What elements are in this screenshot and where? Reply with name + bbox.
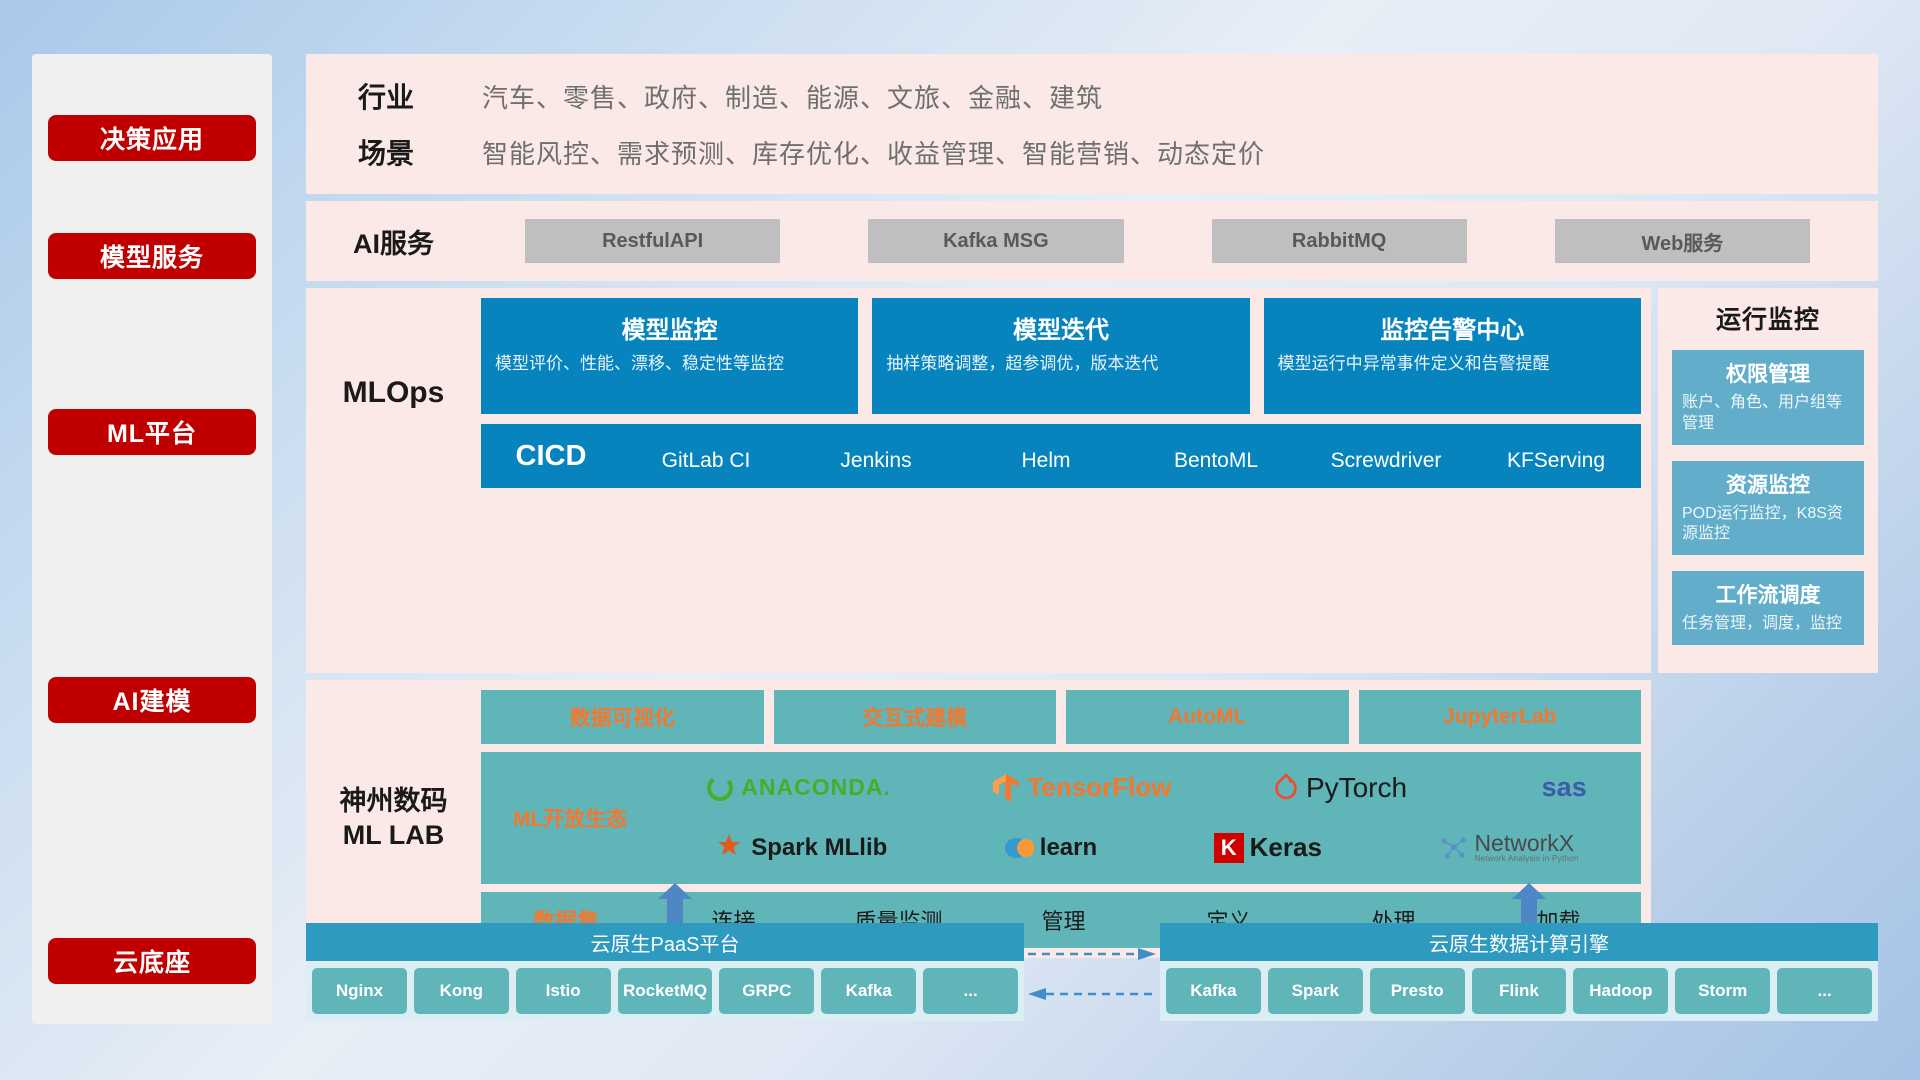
service-chip-web-service[interactable]: Web服务 [1555, 219, 1810, 263]
cicd-title: CICD [481, 440, 621, 473]
card-title: 监控告警中心 [1278, 310, 1627, 345]
card-title: 模型迭代 [886, 310, 1235, 345]
ml-open-ecosystem: ML开放生态 ANACONDA. [481, 752, 1641, 884]
pytorch-label: PyTorch [1306, 772, 1407, 804]
up-arrow-paas-icon [658, 883, 692, 923]
lab-tool-data-visualization[interactable]: 数据可视化 [481, 690, 764, 744]
cicd-item-gitlab-ci[interactable]: GitLab CI [621, 440, 791, 472]
paas-chip-istio[interactable]: Istio [516, 968, 611, 1014]
cicd-item-bentoml[interactable]: BentoML [1131, 440, 1301, 472]
ai-service-label: AI服务 [306, 222, 481, 261]
compute-chip-spark[interactable]: Spark [1268, 968, 1363, 1014]
spark-mllib-label: Spark MLlib [751, 834, 887, 862]
paas-chip-more[interactable]: ... [923, 968, 1018, 1014]
compute-chip-presto[interactable]: Presto [1370, 968, 1465, 1014]
data-compute-engine-block: 云原生数据计算引擎 Kafka Spark Presto Flink Hadoo… [1160, 923, 1878, 1021]
lab-tool-automl[interactable]: AutoML [1066, 690, 1349, 744]
card-desc: 任务管理，调度，监控 [1682, 614, 1854, 635]
ml-lab-label-line2: ML LAB [343, 819, 445, 853]
scenario-key: 场景 [330, 132, 482, 172]
card-title: 模型监控 [495, 310, 844, 345]
compute-chip-kafka[interactable]: Kafka [1166, 968, 1261, 1014]
mlops-card-model-iteration[interactable]: 模型迭代 抽样策略调整，超参调优，版本迭代 [872, 298, 1249, 414]
left-rail: 决策应用 模型服务 ML平台 AI建模 云底座 [32, 54, 272, 1024]
mlops-label: MLOps [306, 298, 481, 488]
anaconda-label: ANACONDA. [741, 774, 891, 801]
compute-chip-more[interactable]: ... [1777, 968, 1872, 1014]
monitor-rail-title: 运行监控 [1672, 300, 1864, 336]
ml-open-ecosystem-label: ML开放生态 [485, 803, 655, 833]
up-arrow-compute-icon [1512, 883, 1546, 923]
keras-logo: K Keras [1214, 832, 1322, 863]
cicd-item-kfserving[interactable]: KFServing [1471, 440, 1641, 472]
ai-service-band: AI服务 RestfulAPI Kafka MSG RabbitMQ Web服务 [306, 201, 1878, 281]
keras-mark: K [1214, 833, 1244, 863]
rail-chip-ml-platform[interactable]: ML平台 [48, 409, 256, 455]
lab-tool-interactive-modeling[interactable]: 交互式建模 [774, 690, 1057, 744]
industry-key: 行业 [330, 76, 482, 116]
paas-platform-block: 云原生PaaS平台 Nginx Kong Istio RocketMQ GRPC… [306, 923, 1024, 1021]
paas-chip-grpc[interactable]: GRPC [719, 968, 814, 1014]
cicd-item-screwdriver[interactable]: Screwdriver [1301, 440, 1471, 472]
card-desc: 模型评价、性能、漂移、稳定性等监控 [495, 353, 844, 376]
monitor-card-workflow[interactable]: 工作流调度 任务管理，调度，监控 [1672, 571, 1864, 645]
spark-mllib-logo: Spark MLlib [713, 833, 887, 863]
pytorch-logo: PyTorch [1272, 772, 1407, 804]
mlops-band: MLOps 模型监控 模型评价、性能、漂移、稳定性等监控 模型迭代 抽样策略调整… [306, 288, 1651, 673]
scenario-row: 场景 智能风控、需求预测、库存优化、收益管理、智能营销、动态定价 [330, 124, 1854, 180]
architecture-stack: 行业 汽车、零售、政府、制造、能源、文旅、金融、建筑 场景 智能风控、需求预测、… [306, 54, 1878, 958]
compute-chip-hadoop[interactable]: Hadoop [1573, 968, 1668, 1014]
rail-chip-decision-app[interactable]: 决策应用 [48, 115, 256, 161]
paas-chip-kong[interactable]: Kong [414, 968, 509, 1014]
paas-chip-rocketmq[interactable]: RocketMQ [618, 968, 713, 1014]
monitor-card-resource[interactable]: 资源监控 POD运行监控，K8S资源监控 [1672, 461, 1864, 556]
paas-chip-kafka[interactable]: Kafka [821, 968, 916, 1014]
scikit-learn-logo: learn [1004, 834, 1097, 862]
card-desc: POD运行监控，K8S资源监控 [1682, 504, 1854, 546]
tensorflow-logo: TensorFlow [991, 772, 1171, 804]
service-chip-rabbitmq[interactable]: RabbitMQ [1212, 219, 1467, 263]
industry-row: 行业 汽车、零售、政府、制造、能源、文旅、金融、建筑 [330, 68, 1854, 124]
cicd-item-helm[interactable]: Helm [961, 440, 1131, 472]
networkx-logo: NetworkX Network Analysis in Python [1438, 832, 1578, 863]
cicd-item-jenkins[interactable]: Jenkins [791, 440, 961, 472]
card-title: 权限管理 [1682, 358, 1854, 388]
networkx-sublabel: Network Analysis in Python [1474, 855, 1578, 863]
sas-logo: sas [1508, 772, 1587, 803]
tensorflow-label: TensorFlow [1027, 772, 1171, 803]
scenario-value: 智能风控、需求预测、库存优化、收益管理、智能营销、动态定价 [482, 134, 1265, 171]
ml-lab-label-line1: 神州数码 [340, 785, 448, 819]
service-chip-restfulapi[interactable]: RestfulAPI [525, 219, 780, 263]
card-desc: 账户、角色、用户组等管理 [1682, 393, 1854, 435]
keras-label: Keras [1250, 832, 1322, 863]
paas-chip-nginx[interactable]: Nginx [312, 968, 407, 1014]
scikit-learn-label: learn [1040, 834, 1097, 862]
rail-chip-ai-modeling[interactable]: AI建模 [48, 677, 256, 723]
anaconda-logo: ANACONDA. [705, 773, 891, 803]
data-compute-engine-title: 云原生数据计算引擎 [1160, 923, 1878, 961]
dashed-arrow-right-icon [1028, 947, 1156, 961]
monitor-card-permission[interactable]: 权限管理 账户、角色、用户组等管理 [1672, 350, 1864, 445]
cloud-infrastructure-section: 云原生PaaS平台 Nginx Kong Istio RocketMQ GRPC… [306, 905, 1878, 1065]
service-chip-kafka-msg[interactable]: Kafka MSG [868, 219, 1123, 263]
card-title: 资源监控 [1682, 469, 1854, 499]
compute-chip-flink[interactable]: Flink [1472, 968, 1567, 1014]
industry-scenario-band: 行业 汽车、零售、政府、制造、能源、文旅、金融、建筑 场景 智能风控、需求预测、… [306, 54, 1878, 194]
sas-label: sas [1542, 772, 1587, 803]
industry-value: 汽车、零售、政府、制造、能源、文旅、金融、建筑 [482, 78, 1103, 115]
rail-chip-cloud-base[interactable]: 云底座 [48, 938, 256, 984]
card-title: 工作流调度 [1682, 579, 1854, 609]
lab-tool-jupyterlab[interactable]: JupyterLab [1359, 690, 1642, 744]
mlops-card-alert-center[interactable]: 监控告警中心 模型运行中异常事件定义和告警提醒 [1264, 298, 1641, 414]
networkx-label: NetworkX [1474, 832, 1578, 855]
card-desc: 模型运行中异常事件定义和告警提醒 [1278, 353, 1627, 376]
paas-platform-title: 云原生PaaS平台 [306, 923, 1024, 961]
cicd-bar: CICD GitLab CI Jenkins Helm BentoML Scre… [481, 424, 1641, 488]
runtime-monitor-rail: 运行监控 权限管理 账户、角色、用户组等管理 资源监控 POD运行监控，K8S资… [1658, 288, 1878, 673]
mlops-card-model-monitoring[interactable]: 模型监控 模型评价、性能、漂移、稳定性等监控 [481, 298, 858, 414]
compute-chip-storm[interactable]: Storm [1675, 968, 1770, 1014]
dashed-arrow-left-icon [1028, 987, 1156, 1001]
rail-chip-model-service[interactable]: 模型服务 [48, 233, 256, 279]
card-desc: 抽样策略调整，超参调优，版本迭代 [886, 353, 1235, 376]
